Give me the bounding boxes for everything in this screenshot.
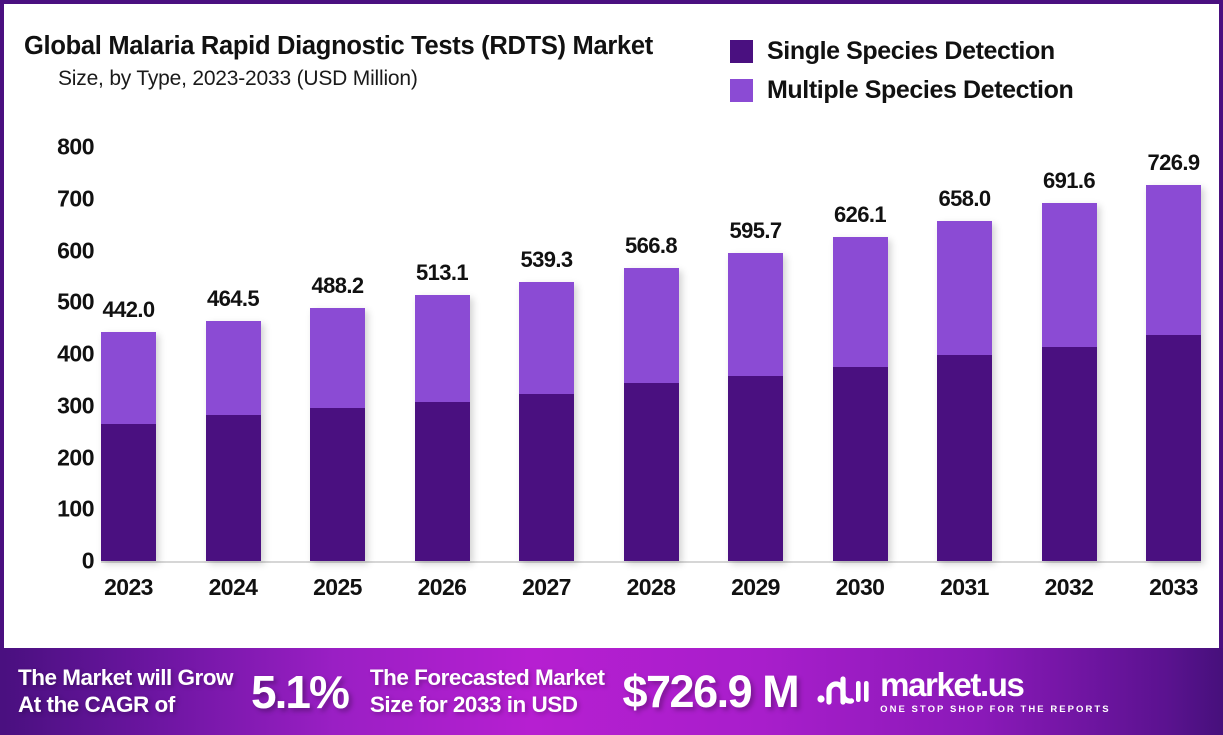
bar-segment-multiple-species[interactable] (624, 268, 679, 383)
chart-area: 0100200300400500600700800 442.0464.5488.… (4, 122, 1223, 624)
x-axis-line (101, 561, 1201, 563)
bar-value-label: 626.1 (834, 202, 886, 228)
bar-segment-multiple-species[interactable] (415, 295, 470, 402)
x-axis-tick-label: 2028 (624, 574, 679, 601)
bar-segment-single-species[interactable] (728, 376, 783, 561)
market-us-logo-icon (816, 669, 872, 714)
bar-segment-single-species[interactable] (937, 355, 992, 561)
y-axis-tick: 200 (4, 444, 94, 471)
bar-value-label: 726.9 (1147, 150, 1199, 176)
bar-column[interactable]: 626.1 (833, 147, 888, 561)
x-axis-tick-label: 2025 (310, 574, 365, 601)
bar-segment-single-species[interactable] (833, 367, 888, 561)
bar-segment-single-species[interactable] (624, 383, 679, 561)
bar-segment-single-species[interactable] (415, 402, 470, 561)
x-axis-tick-label: 2031 (937, 574, 992, 601)
cagr-label-line1: The Market will Grow (18, 665, 233, 692)
y-axis-tick: 500 (4, 289, 94, 316)
bar-group: 442.0464.5488.2513.1539.3566.8595.7626.1… (101, 147, 1201, 561)
y-axis: 0100200300400500600700800 (4, 122, 94, 586)
bar-segment-single-species[interactable] (310, 408, 365, 561)
market-us-logo[interactable]: market.us ONE STOP SHOP FOR THE REPORTS (816, 669, 1110, 715)
x-axis-tick-label: 2030 (833, 574, 888, 601)
bar-column[interactable]: 566.8 (624, 147, 679, 561)
bar-segment-single-species[interactable] (519, 394, 574, 561)
cagr-label-line2: At the CAGR of (18, 692, 233, 719)
legend-label: Single Species Detection (767, 37, 1055, 66)
forecast-label-line2: Size for 2033 in USD (370, 692, 605, 719)
bar-segment-multiple-species[interactable] (728, 253, 783, 376)
bar-value-label: 658.0 (938, 186, 990, 212)
bar-segment-multiple-species[interactable] (519, 282, 574, 394)
bar-segment-single-species[interactable] (1146, 335, 1201, 561)
bar-segment-single-species[interactable] (101, 424, 156, 561)
legend-item-single-species[interactable]: Single Species Detection (730, 37, 1073, 66)
y-axis-tick: 800 (4, 134, 94, 161)
cagr-value: 5.1% (251, 665, 348, 719)
y-axis-tick: 300 (4, 392, 94, 419)
bar-segment-multiple-species[interactable] (1042, 203, 1097, 347)
bar-value-label: 691.6 (1043, 168, 1095, 194)
bar-segment-single-species[interactable] (1042, 347, 1097, 561)
chart-page: Global Malaria Rapid Diagnostic Tests (R… (0, 0, 1223, 735)
x-axis-tick-label: 2029 (728, 574, 783, 601)
forecast-label-line1: The Forecasted Market (370, 665, 605, 692)
bar-column[interactable]: 488.2 (310, 147, 365, 561)
chart-legend: Single Species Detection Multiple Specie… (730, 37, 1073, 115)
bar-segment-multiple-species[interactable] (310, 308, 365, 407)
title-block: Global Malaria Rapid Diagnostic Tests (R… (24, 32, 653, 91)
bar-column[interactable]: 539.3 (519, 147, 574, 561)
page-title: Global Malaria Rapid Diagnostic Tests (R… (24, 32, 653, 61)
x-axis-tick-label: 2033 (1146, 574, 1201, 601)
x-axis-tick-label: 2023 (101, 574, 156, 601)
bar-segment-multiple-species[interactable] (833, 237, 888, 367)
bar-value-label: 464.5 (207, 286, 259, 312)
bar-segment-multiple-species[interactable] (206, 321, 261, 415)
bar-column[interactable]: 464.5 (206, 147, 261, 561)
forecast-value: $726.9 M (623, 666, 799, 718)
bar-column[interactable]: 595.7 (728, 147, 783, 561)
logo-tagline: ONE STOP SHOP FOR THE REPORTS (880, 704, 1110, 715)
bar-segment-multiple-species[interactable] (937, 221, 992, 356)
x-axis-labels: 2023202420252026202720282029203020312032… (101, 574, 1201, 601)
cagr-label: The Market will Grow At the CAGR of (18, 665, 233, 718)
y-axis-tick: 600 (4, 237, 94, 264)
square-swatch-icon (730, 40, 753, 63)
y-axis-tick: 100 (4, 496, 94, 523)
footer-banner: The Market will Grow At the CAGR of 5.1%… (4, 648, 1223, 735)
y-axis-tick: 400 (4, 341, 94, 368)
bar-segment-multiple-species[interactable] (1146, 185, 1201, 335)
bar-column[interactable]: 726.9 (1146, 147, 1201, 561)
x-axis-tick-label: 2027 (519, 574, 574, 601)
logo-text-block: market.us ONE STOP SHOP FOR THE REPORTS (880, 669, 1110, 715)
bar-column[interactable]: 513.1 (415, 147, 470, 561)
chart-header: Global Malaria Rapid Diagnostic Tests (R… (4, 4, 1223, 122)
bar-segment-single-species[interactable] (206, 415, 261, 561)
y-axis-tick: 0 (4, 548, 94, 575)
legend-item-multiple-species[interactable]: Multiple Species Detection (730, 76, 1073, 105)
bar-column[interactable]: 658.0 (937, 147, 992, 561)
bar-column[interactable]: 691.6 (1042, 147, 1097, 561)
x-axis-tick-label: 2026 (415, 574, 470, 601)
bar-value-label: 442.0 (102, 297, 154, 323)
bar-value-label: 539.3 (520, 247, 572, 273)
logo-wordmark: market.us (880, 666, 1023, 703)
bar-value-label: 595.7 (729, 218, 781, 244)
bar-value-label: 566.8 (625, 233, 677, 259)
x-axis-tick-label: 2032 (1042, 574, 1097, 601)
page-subtitle: Size, by Type, 2023-2033 (USD Million) (58, 67, 653, 91)
bar-value-label: 513.1 (416, 260, 468, 286)
x-axis-tick-label: 2024 (206, 574, 261, 601)
bar-value-label: 488.2 (311, 273, 363, 299)
bar-segment-multiple-species[interactable] (101, 332, 156, 424)
forecast-label: The Forecasted Market Size for 2033 in U… (370, 665, 605, 718)
bar-column[interactable]: 442.0 (101, 147, 156, 561)
y-axis-tick: 700 (4, 185, 94, 212)
square-swatch-icon (730, 79, 753, 102)
legend-label: Multiple Species Detection (767, 76, 1073, 105)
